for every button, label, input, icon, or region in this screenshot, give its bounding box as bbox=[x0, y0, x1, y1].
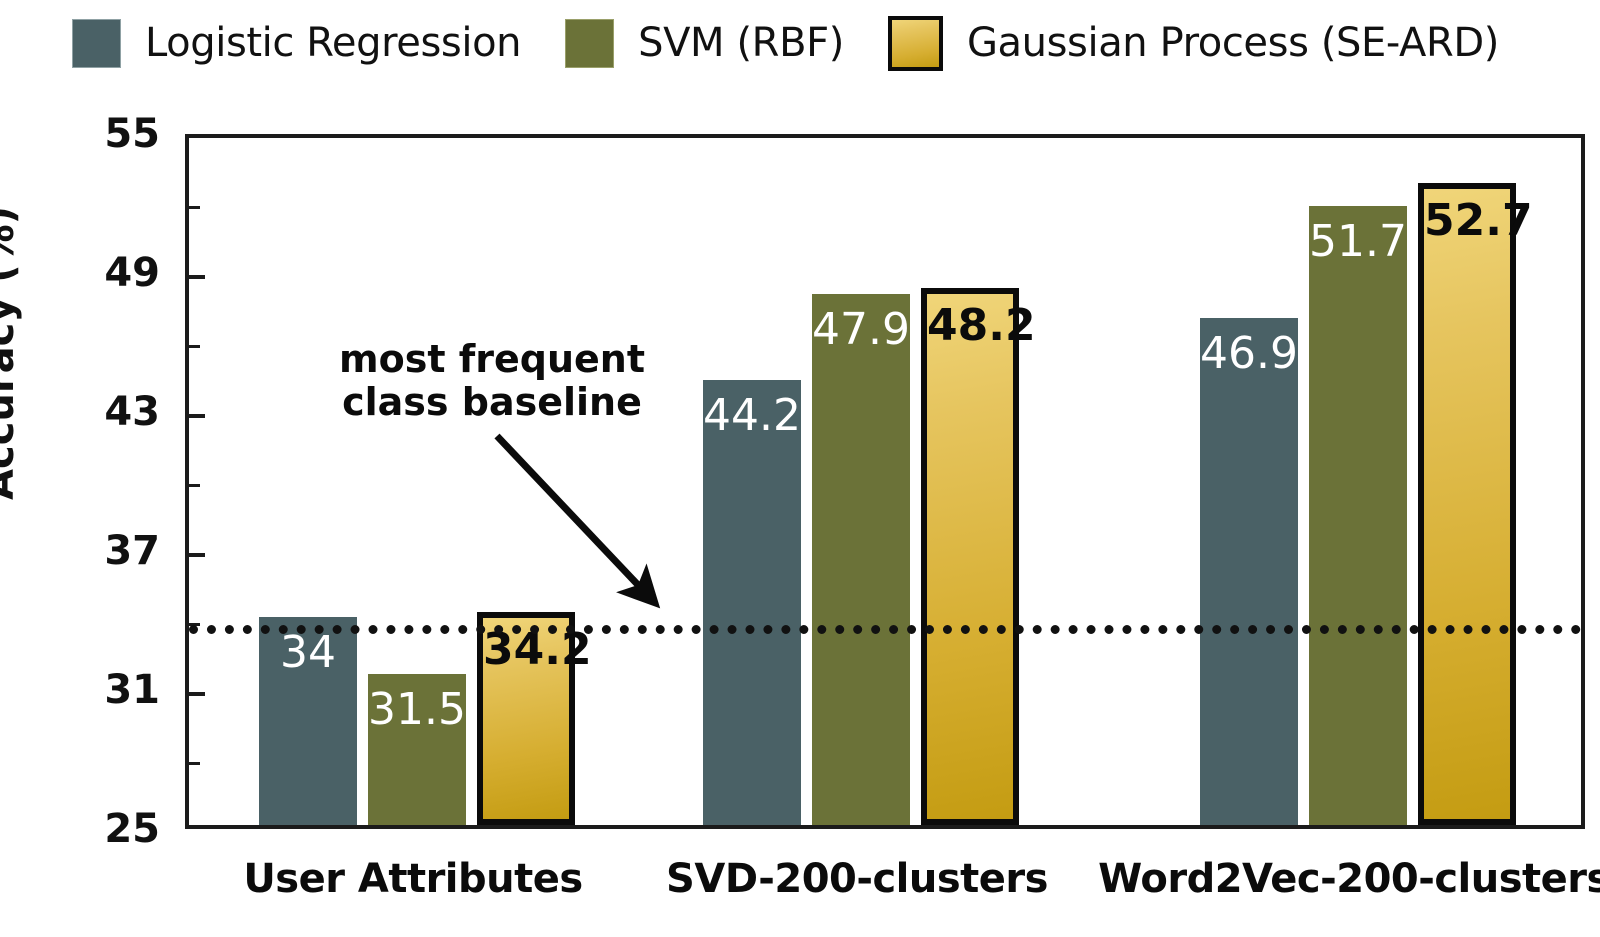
bar-value-label: 44.2 bbox=[703, 394, 801, 438]
legend-label-gaussian-process: Gaussian Process (SE-ARD) bbox=[967, 20, 1499, 66]
x-axis-tick-label: SVD-200-clusters bbox=[666, 856, 1048, 902]
y-axis-minor-tick bbox=[189, 762, 200, 765]
x-axis-tick-label: Word2Vec-200-clusters bbox=[1098, 856, 1600, 902]
y-axis-tick-label: 43 bbox=[30, 389, 160, 435]
chart-plot-area: 3431.534.244.247.948.246.951.752.7 most … bbox=[185, 134, 1585, 829]
bar[interactable]: 34 bbox=[259, 617, 357, 826]
bar[interactable]: 51.7 bbox=[1309, 206, 1407, 825]
bar[interactable]: 31.5 bbox=[368, 674, 466, 825]
bar-value-label: 34 bbox=[259, 631, 357, 675]
bar[interactable]: 48.2 bbox=[921, 288, 1019, 825]
y-axis-major-tick bbox=[189, 275, 205, 279]
y-axis-tick-label: 49 bbox=[30, 250, 160, 296]
y-axis-minor-tick bbox=[189, 345, 200, 348]
y-axis-tick-label: 31 bbox=[30, 667, 160, 713]
bar-value-label: 52.7 bbox=[1424, 199, 1510, 243]
bar-value-label: 34.2 bbox=[483, 628, 569, 672]
y-axis-tick-label: 25 bbox=[30, 806, 160, 852]
bar-value-label: 31.5 bbox=[368, 688, 466, 732]
chart-legend: Logistic Regression SVM (RBF) Gaussian P… bbox=[0, 0, 1600, 86]
bar-value-label: 48.2 bbox=[927, 304, 1013, 348]
y-axis-minor-tick bbox=[189, 484, 200, 487]
y-axis-major-tick bbox=[189, 414, 205, 418]
y-axis-minor-tick bbox=[189, 206, 200, 209]
legend-swatch-gaussian-process bbox=[888, 16, 943, 71]
legend-label-logistic-regression: Logistic Regression bbox=[145, 20, 521, 66]
legend-item-gaussian-process[interactable]: Gaussian Process (SE-ARD) bbox=[888, 16, 1499, 71]
bar-value-label: 51.7 bbox=[1309, 220, 1407, 264]
annotation-arrow-icon bbox=[489, 428, 689, 618]
bar-value-label: 47.9 bbox=[812, 308, 910, 352]
y-axis-major-tick bbox=[189, 692, 205, 696]
bar-value-label: 46.9 bbox=[1200, 332, 1298, 376]
bar[interactable]: 44.2 bbox=[703, 380, 801, 825]
bar[interactable]: 46.9 bbox=[1200, 318, 1298, 825]
legend-swatch-svm-rbf bbox=[565, 19, 614, 68]
chart-plot-inner: 3431.534.244.247.948.246.951.752.7 most … bbox=[189, 138, 1581, 825]
bar[interactable]: 34.2 bbox=[477, 612, 575, 825]
bar[interactable]: 47.9 bbox=[812, 294, 910, 825]
bar[interactable]: 52.7 bbox=[1418, 183, 1516, 825]
baseline-annotation-text: most frequent class baseline bbox=[339, 338, 645, 423]
y-axis-title: Accuracy (%) bbox=[0, 153, 23, 553]
legend-item-logistic-regression[interactable]: Logistic Regression bbox=[72, 19, 521, 68]
legend-swatch-logistic-regression bbox=[72, 19, 121, 68]
baseline-reference-line bbox=[189, 625, 1581, 634]
y-axis-tick-label: 55 bbox=[30, 111, 160, 157]
x-axis-tick-label: User Attributes bbox=[243, 856, 582, 902]
legend-label-svm-rbf: SVM (RBF) bbox=[638, 20, 844, 66]
y-axis-major-tick bbox=[189, 553, 205, 557]
legend-item-svm-rbf[interactable]: SVM (RBF) bbox=[565, 19, 844, 68]
y-axis-tick-label: 37 bbox=[30, 528, 160, 574]
